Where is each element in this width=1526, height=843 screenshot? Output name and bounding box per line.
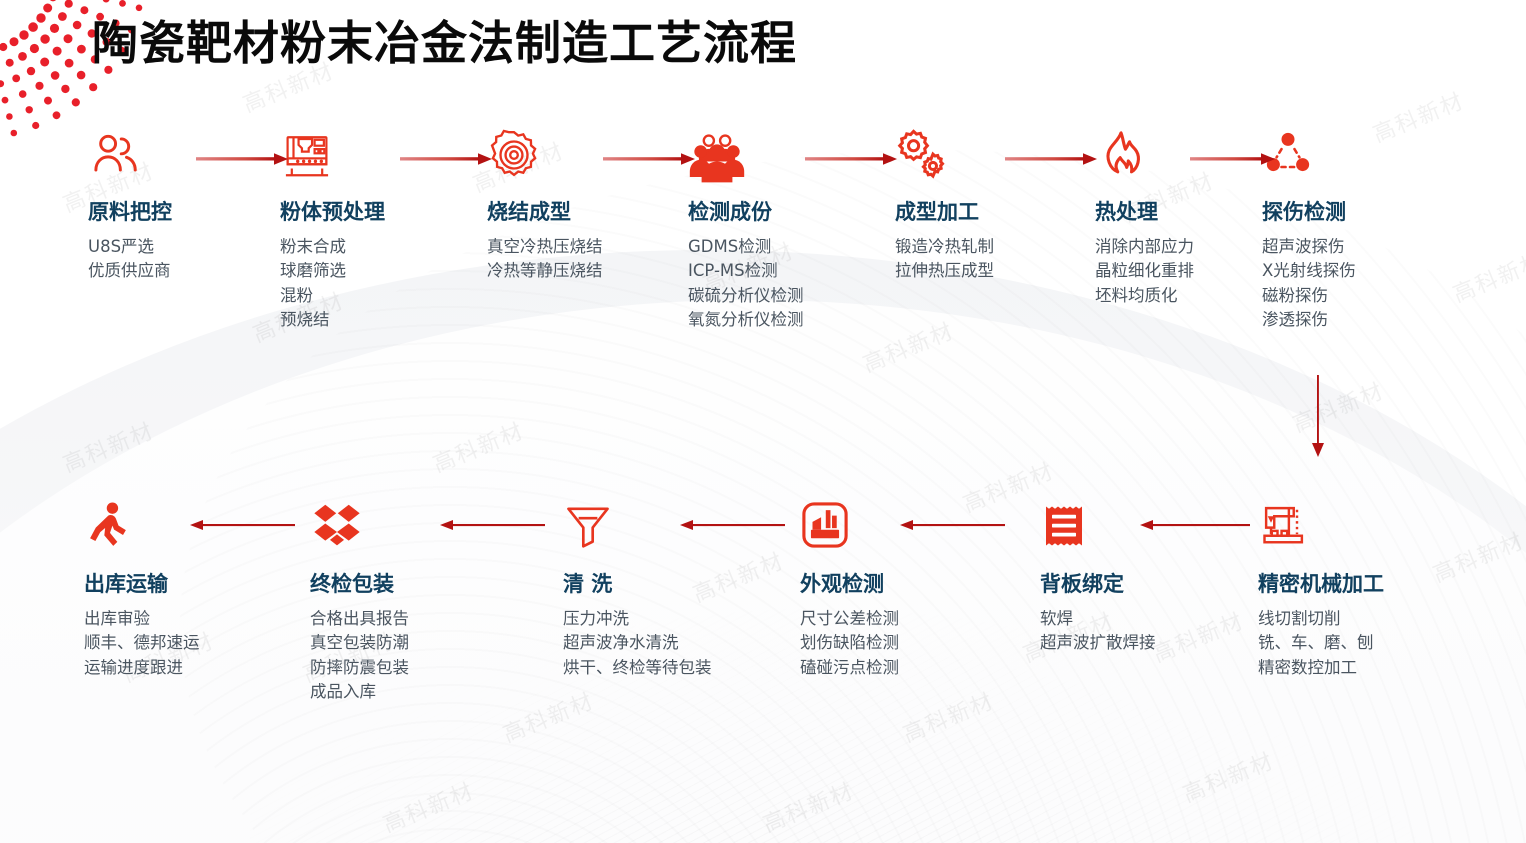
step-detail-line: 混粉	[280, 284, 445, 308]
step-detail-list: 线切割切削铣、车、磨、刨精密数控加工	[1258, 607, 1423, 680]
process-step-精密机械加工[interactable]: 精密机械加工线切割切削铣、车、磨、刨精密数控加工	[1258, 500, 1423, 680]
step-title: 粉体预处理	[280, 196, 445, 226]
step-detail-list: 粉末合成球磨筛选混粉预烧结	[280, 235, 445, 332]
step-detail-list: 消除内部应力晶粒细化重排坯料均质化	[1095, 235, 1260, 308]
flow-arrow-left	[680, 518, 785, 532]
flow-arrow-left	[440, 518, 545, 532]
step-detail-line: 磁粉探伤	[1262, 284, 1427, 308]
step-title: 原料把控	[88, 196, 253, 226]
watermark-text: 高科新材	[1428, 523, 1526, 589]
step-detail-line: 坯料均质化	[1095, 284, 1260, 308]
step-title: 清 洗	[563, 568, 728, 598]
step-detail-line: 防摔防震包装	[310, 656, 475, 680]
step-detail-line: 精密数控加工	[1258, 656, 1423, 680]
step-detail-line: 软焊	[1040, 607, 1205, 631]
watermark-text: 高科新材	[758, 773, 859, 839]
step-title: 烧结成型	[487, 196, 652, 226]
step-detail-line: 超声波净水清洗	[563, 631, 728, 655]
watermark-text: 高科新材	[1448, 243, 1526, 309]
step-detail-line: 碳硫分析仪检测	[688, 284, 853, 308]
cnc-machine-icon	[1258, 500, 1423, 562]
step-detail-line: 锻造冷热轧制	[895, 235, 1060, 259]
watermark-text: 高科新材	[1288, 373, 1389, 439]
flow-arrow-right	[196, 152, 288, 166]
step-detail-line: ICP-MS检测	[688, 259, 853, 283]
step-detail-line: 氧氮分析仪检测	[688, 308, 853, 332]
step-title: 外观检测	[800, 568, 965, 598]
flow-arrow-right	[400, 152, 492, 166]
step-title: 出库运输	[84, 568, 249, 598]
step-title: 热处理	[1095, 196, 1260, 226]
step-title: 背板绑定	[1040, 568, 1205, 598]
step-detail-line: 运输进度跟进	[84, 656, 249, 680]
step-detail-line: GDMS检测	[688, 235, 853, 259]
step-detail-line: 渗透探伤	[1262, 308, 1427, 332]
step-detail-line: 压力冲洗	[563, 607, 728, 631]
step-detail-line: 划伤缺陷检测	[800, 631, 965, 655]
flow-arrow-down	[1310, 375, 1326, 462]
step-detail-line: 铣、车、磨、刨	[1258, 631, 1423, 655]
step-detail-list: 合格出具报告真空包装防潮防摔防震包装成品入库	[310, 607, 475, 704]
step-title: 精密机械加工	[1258, 568, 1423, 598]
process-step-探伤检测[interactable]: 探伤检测超声波探伤X光射线探伤磁粉探伤渗透探伤	[1262, 128, 1427, 332]
page-title: 陶瓷靶材粉末冶金法制造工艺流程	[92, 7, 797, 73]
step-detail-line: 消除内部应力	[1095, 235, 1260, 259]
step-detail-list: 出库审验顺丰、德邦速运运输进度跟进	[84, 607, 249, 680]
step-detail-line: 真空冷热压烧结	[487, 235, 652, 259]
step-detail-line: 顺丰、德邦速运	[84, 631, 249, 655]
step-detail-list: 软焊超声波扩散焊接	[1040, 607, 1205, 656]
flow-arrow-left	[1140, 518, 1250, 532]
flow-arrow-right	[805, 152, 897, 166]
watermark-text: 高科新材	[898, 683, 999, 749]
step-detail-line: 超声波探伤	[1262, 235, 1427, 259]
flow-arrow-right	[1005, 152, 1097, 166]
step-detail-list: 超声波探伤X光射线探伤磁粉探伤渗透探伤	[1262, 235, 1427, 332]
watermark-text: 高科新材	[58, 413, 159, 479]
step-title: 终检包装	[310, 568, 475, 598]
watermark-text: 高科新材	[1178, 743, 1279, 809]
flow-arrow-right	[1190, 152, 1275, 166]
step-detail-line: 冷热等静压烧结	[487, 259, 652, 283]
step-detail-list: U8S严选优质供应商	[88, 235, 253, 284]
step-detail-line: 真空包装防潮	[310, 631, 475, 655]
step-detail-line: X光射线探伤	[1262, 259, 1427, 283]
step-detail-line: U8S严选	[88, 235, 253, 259]
step-detail-line: 成品入库	[310, 680, 475, 704]
watermark-text: 高科新材	[378, 773, 479, 839]
step-title: 成型加工	[895, 196, 1060, 226]
step-detail-line: 合格出具报告	[310, 607, 475, 631]
step-detail-list: 尺寸公差检测划伤缺陷检测磕碰污点检测	[800, 607, 965, 680]
step-detail-line: 烘干、终检等待包装	[563, 656, 728, 680]
step-detail-list: 锻造冷热轧制拉伸热压成型	[895, 235, 1060, 284]
step-detail-line: 磕碰污点检测	[800, 656, 965, 680]
step-detail-line: 尺寸公差检测	[800, 607, 965, 631]
step-detail-list: GDMS检测ICP-MS检测碳硫分析仪检测氧氮分析仪检测	[688, 235, 853, 332]
step-detail-line: 出库审验	[84, 607, 249, 631]
watermark-text: 高科新材	[858, 313, 959, 379]
step-detail-line: 球磨筛选	[280, 259, 445, 283]
step-detail-line: 粉末合成	[280, 235, 445, 259]
flow-arrow-right	[603, 152, 695, 166]
step-detail-list: 真空冷热压烧结冷热等静压烧结	[487, 235, 652, 284]
watermark-text: 高科新材	[498, 683, 599, 749]
flow-arrow-left	[190, 518, 295, 532]
flow-arrow-left	[900, 518, 1005, 532]
step-detail-line: 优质供应商	[88, 259, 253, 283]
step-detail-line: 晶粒细化重排	[1095, 259, 1260, 283]
step-detail-list: 压力冲洗超声波净水清洗烘干、终检等待包装	[563, 607, 728, 680]
step-detail-line: 预烧结	[280, 308, 445, 332]
step-detail-line: 拉伸热压成型	[895, 259, 1060, 283]
step-title: 检测成份	[688, 196, 853, 226]
step-detail-line: 超声波扩散焊接	[1040, 631, 1205, 655]
step-detail-line: 线切割切削	[1258, 607, 1423, 631]
three-dots-triangle-icon	[1262, 128, 1427, 190]
step-title: 探伤检测	[1262, 196, 1427, 226]
watermark-text: 高科新材	[428, 413, 529, 479]
